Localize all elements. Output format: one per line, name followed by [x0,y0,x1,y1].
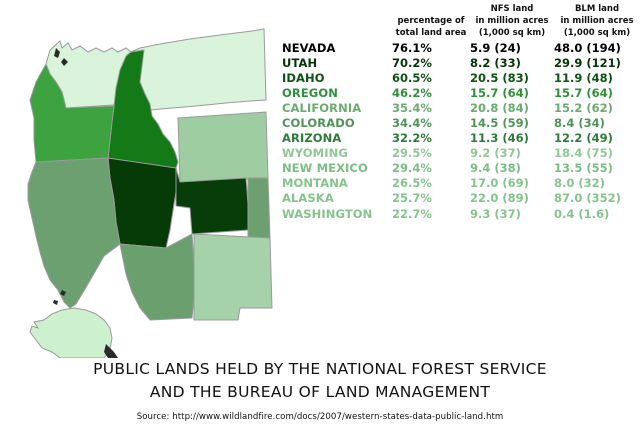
cell-blm: 8.0 (32) [554,176,640,191]
map-state-montana[interactable] [131,29,266,111]
cell-nfs: 11.3 (46) [470,131,554,146]
table-row[interactable]: WASHINGTON22.7%9.3 (37)0.4 (1.6) [282,206,640,221]
infographic-root: NFS land BLM land percentage of in milli… [0,0,640,444]
table-row[interactable]: IDAHO60.5%20.5 (83)11.9 (48) [282,70,640,85]
header-row-1: NFS land BLM land [282,4,640,16]
header-pct-line1 [392,4,470,16]
data-table-panel: NFS land BLM land percentage of in milli… [282,4,640,221]
cell-pct: 32.2% [392,131,470,146]
table-row[interactable]: NEVADA76.1%5.9 (24)48.0 (194) [282,40,640,55]
table-row[interactable]: MONTANA26.5%17.0 (69)8.0 (32) [282,176,640,191]
header-row-2: percentage of in million acres in millio… [282,16,640,28]
chart-title: PUBLIC LANDS HELD BY THE NATIONAL FOREST… [0,358,640,404]
cell-pct: 25.7% [392,191,470,206]
cell-state: UTAH [282,55,392,70]
header-state-blank-3 [282,28,392,40]
cell-blm: 12.2 (49) [554,131,640,146]
cell-nfs: 17.0 (69) [470,176,554,191]
cell-state: IDAHO [282,70,392,85]
cell-state: WASHINGTON [282,206,392,221]
cell-state: ARIZONA [282,131,392,146]
cell-pct: 26.5% [392,176,470,191]
cell-state: CALIFORNIA [282,100,392,115]
cell-nfs: 8.2 (33) [470,55,554,70]
cell-nfs: 14.5 (59) [470,115,554,130]
header-pct-line2: percentage of [392,16,470,28]
map-svg [0,8,285,358]
cell-blm: 8.4 (34) [554,115,640,130]
header-blm-line1: BLM land [554,4,640,16]
cell-pct: 29.5% [392,146,470,161]
cell-pct: 35.4% [392,100,470,115]
table-row[interactable]: ALASKA25.7%22.0 (89)87.0 (352) [282,191,640,206]
header-nfs-line3: (1,000 sq km) [470,28,554,40]
cell-state: NEW MEXICO [282,161,392,176]
table-row[interactable]: ARIZONA32.2%11.3 (46)12.2 (49) [282,131,640,146]
header-nfs-line2: in million acres [470,16,554,28]
header-state-blank-2 [282,16,392,28]
header-nfs-line1: NFS land [470,4,554,16]
cell-blm: 15.2 (62) [554,100,640,115]
map-state-colorado[interactable] [248,178,270,238]
table-row[interactable]: OREGON46.2%15.7 (64)15.7 (64) [282,85,640,100]
source-citation: Source: http://www.wildlandfire.com/docs… [0,412,640,422]
cell-blm: 0.4 (1.6) [554,206,640,221]
table-header: NFS land BLM land percentage of in milli… [282,4,640,40]
cell-nfs: 22.0 (89) [470,191,554,206]
cell-pct: 34.4% [392,115,470,130]
cell-pct: 76.1% [392,40,470,55]
cell-pct: 70.2% [392,55,470,70]
cell-state: NEVADA [282,40,392,55]
cell-nfs: 9.4 (38) [470,161,554,176]
cell-nfs: 5.9 (24) [470,40,554,55]
cell-nfs: 20.5 (83) [470,70,554,85]
cell-pct: 29.4% [392,161,470,176]
table-row[interactable]: UTAH70.2%8.2 (33)29.9 (121) [282,55,640,70]
header-row-3: total land area (1,000 sq km) (1,000 sq … [282,28,640,40]
cell-nfs: 9.2 (37) [470,146,554,161]
cell-pct: 46.2% [392,85,470,100]
table-row[interactable]: CALIFORNIA35.4%20.8 (84)15.2 (62) [282,100,640,115]
choropleth-map [0,8,285,358]
header-blm-line2: in million acres [554,16,640,28]
map-state-arizona[interactable] [120,234,194,320]
title-line-1: PUBLIC LANDS HELD BY THE NATIONAL FOREST… [0,358,640,381]
cell-blm: 48.0 (194) [554,40,640,55]
cell-state: WYOMING [282,146,392,161]
map-state-alaska[interactable] [30,308,112,358]
cell-blm: 11.9 (48) [554,70,640,85]
title-line-2: AND THE BUREAU OF LAND MANAGEMENT [0,381,640,404]
public-lands-table: NFS land BLM land percentage of in milli… [282,4,640,221]
cell-pct: 60.5% [392,70,470,85]
cell-nfs: 15.7 (64) [470,85,554,100]
cell-pct: 22.7% [392,206,470,221]
cell-nfs: 20.8 (84) [470,100,554,115]
map-state-wyoming[interactable] [178,112,268,182]
table-row[interactable]: COLORADO34.4%14.5 (59)8.4 (34) [282,115,640,130]
cell-state: MONTANA [282,176,392,191]
cell-blm: 18.4 (75) [554,146,640,161]
table-row[interactable]: NEW MEXICO29.4%9.4 (38)13.5 (55) [282,161,640,176]
header-blm-line3: (1,000 sq km) [554,28,640,40]
cell-state: OREGON [282,85,392,100]
cell-blm: 15.7 (64) [554,85,640,100]
cell-state: COLORADO [282,115,392,130]
cell-state: ALASKA [282,191,392,206]
cell-blm: 29.9 (121) [554,55,640,70]
cell-blm: 13.5 (55) [554,161,640,176]
map-state-california[interactable] [28,158,120,308]
cell-nfs: 9.3 (37) [470,206,554,221]
cell-blm: 87.0 (352) [554,191,640,206]
table-row[interactable]: WYOMING29.5%9.2 (37)18.4 (75) [282,146,640,161]
header-pct-line3: total land area [392,28,470,40]
header-state-blank-1 [282,4,392,16]
map-state-newmexico[interactable] [194,234,272,320]
table-body: NEVADA76.1%5.9 (24)48.0 (194)UTAH70.2%8.… [282,40,640,221]
